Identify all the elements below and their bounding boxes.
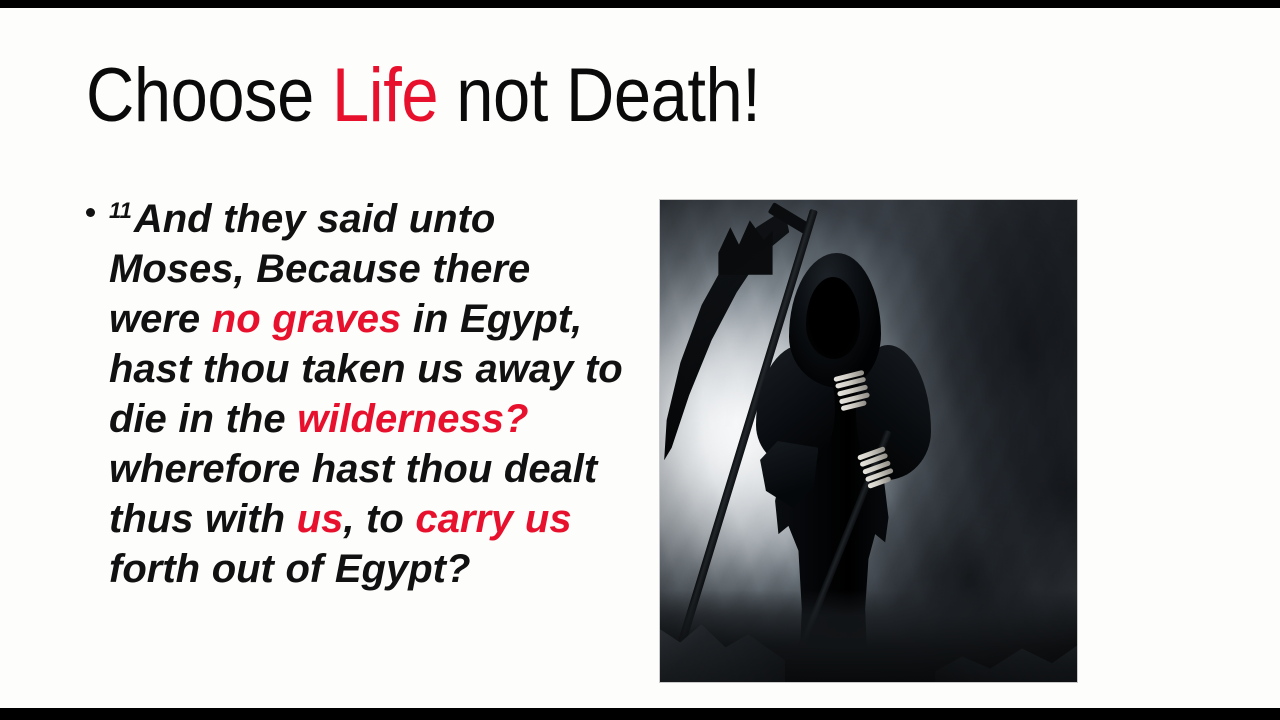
title-accent-word: Life <box>332 53 438 138</box>
scripture-bullet-item: 11And they said unto Moses, Because ther… <box>84 194 632 594</box>
body-text-column: 11And they said unto Moses, Because ther… <box>84 194 632 594</box>
bullet-dot-icon <box>86 208 95 217</box>
title-part-after: not Death! <box>438 53 760 138</box>
grim-reaper-image-frame <box>659 199 1078 683</box>
slide-stage: Choose Life not Death! 11And they said u… <box>0 0 1280 720</box>
title-part-before: Choose <box>86 53 332 138</box>
grim-reaper-photo <box>660 200 1077 682</box>
scripture-runs: And they said unto Moses, Because there … <box>109 197 623 591</box>
highlighted-text: wilderness? <box>297 397 528 441</box>
highlighted-text: no graves <box>212 297 401 341</box>
scripture-text: forth out of Egypt? <box>109 547 470 591</box>
letterbox-top-bar <box>0 0 1280 8</box>
highlighted-text: us <box>297 497 344 541</box>
page-title: Choose Life not Death! <box>86 52 1054 140</box>
slide-canvas: Choose Life not Death! 11And they said u… <box>0 8 1280 708</box>
scripture-text: , to <box>343 497 415 541</box>
letterbox-bottom-bar <box>0 708 1280 720</box>
verse-number: 11 <box>109 198 132 223</box>
highlighted-text: carry us <box>415 497 571 541</box>
